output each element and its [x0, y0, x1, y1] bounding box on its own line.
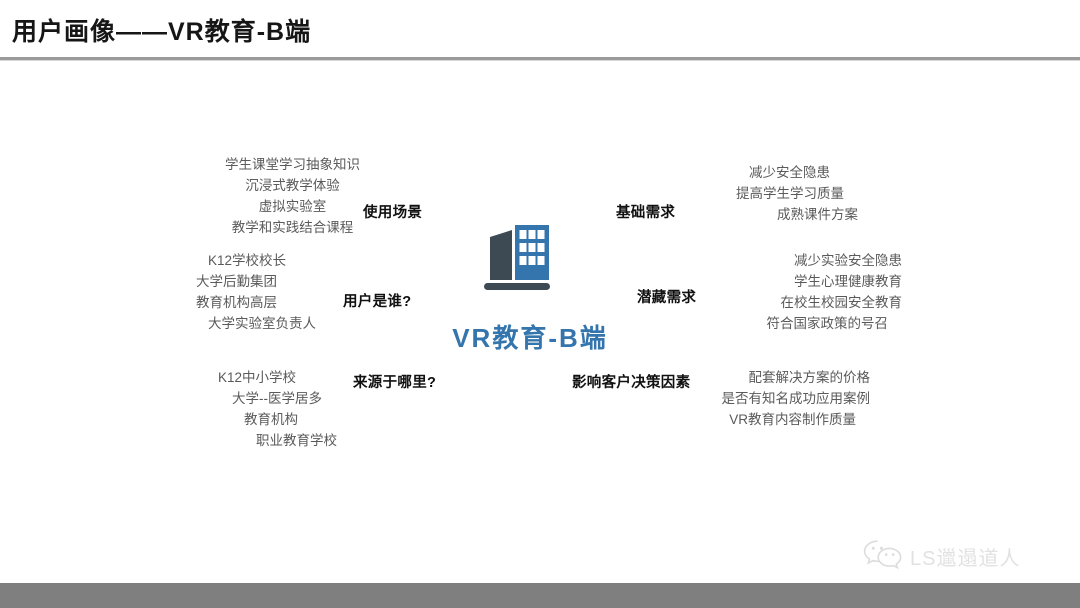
items-decision-factors: 配套解决方案的价格 是否有知名成功应用案例 VR教育内容制作质量 [658, 367, 870, 430]
list-item: 大学--医学居多 [218, 388, 423, 409]
bottom-bar [0, 583, 1080, 608]
items-latent-needs: 减少实验安全隐患 学生心理健康教育 在校生校园安全教育 符合国家政策的号召 [688, 250, 902, 334]
list-item: 成熟课件方案 [650, 204, 858, 225]
list-item: 学生心理健康教育 [688, 271, 902, 292]
watermark: LS邋遢道人 [862, 538, 1020, 575]
title-divider-thin [0, 60, 1080, 61]
center-persona-label: VR教育-B端 [400, 318, 660, 355]
list-item: 提高学生学习质量 [650, 183, 858, 204]
watermark-text: LS邋遢道人 [910, 542, 1020, 571]
list-item: 是否有知名成功应用案例 [658, 388, 870, 409]
list-item: 在校生校园安全教育 [688, 292, 902, 313]
list-item: 教学和实践结合课程 [190, 217, 395, 238]
list-item: 减少实验安全隐患 [688, 250, 902, 271]
list-item: K12学校校长 [196, 250, 401, 271]
office-building-icon [478, 222, 562, 294]
items-where-from: K12中小学校 大学--医学居多 教育机构 职业教育学校 [218, 367, 423, 451]
list-item: 大学后勤集团 [196, 271, 401, 292]
slide-canvas: 用户画像——VR教育-B端 VR教育-B端 使用场景 学生课堂学习抽象知识 沉浸… [0, 0, 1080, 608]
list-item: 教育机构高层 [196, 292, 401, 313]
list-item: 减少安全隐患 [650, 162, 858, 183]
list-item: 符合国家政策的号召 [688, 313, 902, 334]
items-usage-scenarios: 学生课堂学习抽象知识 沉浸式教学体验 虚拟实验室 教学和实践结合课程 [190, 154, 395, 238]
items-basic-needs: 减少安全隐患 提高学生学习质量 成熟课件方案 [650, 162, 858, 225]
list-item: 虚拟实验室 [190, 196, 395, 217]
list-item: 沉浸式教学体验 [190, 175, 395, 196]
list-item: 配套解决方案的价格 [658, 367, 870, 388]
list-item: K12中小学校 [218, 367, 423, 388]
list-item: 教育机构 [218, 409, 423, 430]
wechat-icon [862, 538, 902, 575]
items-who-is-user: K12学校校长 大学后勤集团 教育机构高层 大学实验室负责人 [196, 250, 401, 334]
list-item: 学生课堂学习抽象知识 [190, 154, 395, 175]
list-item: 职业教育学校 [218, 430, 423, 451]
list-item: VR教育内容制作质量 [658, 409, 870, 430]
list-item: 大学实验室负责人 [196, 313, 401, 334]
page-title: 用户画像——VR教育-B端 [12, 12, 311, 48]
